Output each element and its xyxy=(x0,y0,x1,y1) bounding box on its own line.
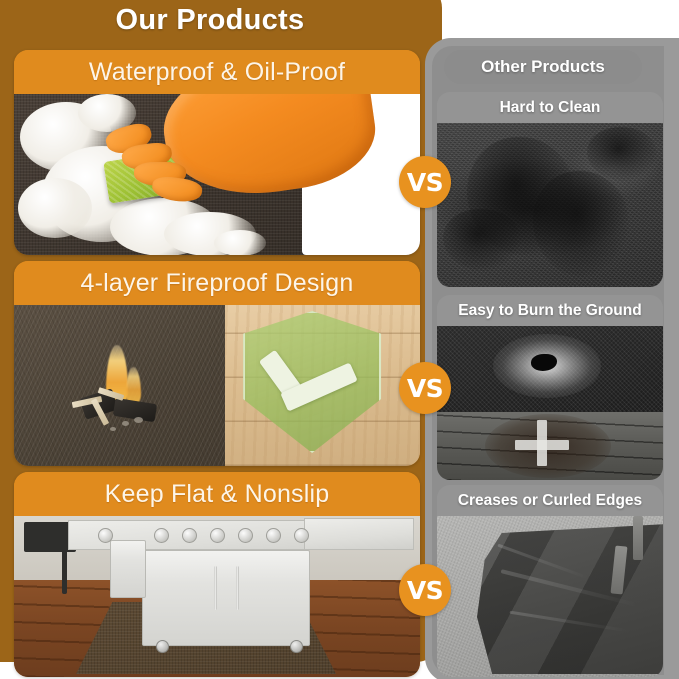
grill-door-handle xyxy=(236,566,239,610)
grill-knob xyxy=(210,528,225,543)
other-products-title: Other Products xyxy=(444,50,642,84)
vs-badge: VS xyxy=(399,564,451,616)
our-product-card-fireproof: 4-layer Fireproof Design xyxy=(14,261,420,466)
grill-knob xyxy=(182,528,197,543)
ash-fleck xyxy=(110,427,116,431)
patio-chair xyxy=(62,526,67,594)
our-card-heading: 4-layer Fireproof Design xyxy=(14,261,420,305)
grill-knob xyxy=(98,528,113,543)
our-card-heading: Keep Flat & Nonslip xyxy=(14,472,420,516)
vs-badge: VS xyxy=(399,362,451,414)
other-product-card-hard-to-clean: Hard to Clean xyxy=(437,92,663,287)
other-product-card-burn-ground: Easy to Burn the Ground xyxy=(437,295,663,480)
grill-side-shelf xyxy=(304,518,414,550)
patio-chair xyxy=(28,546,70,551)
ash-fleck xyxy=(122,421,129,426)
grill-cabinet xyxy=(142,550,310,646)
fireproof-photo xyxy=(14,305,420,466)
dirty-carpet-photo xyxy=(437,123,663,287)
black-mat-texture xyxy=(437,326,663,415)
burned-mat-photo xyxy=(437,326,663,480)
our-card-heading: Waterproof & Oil-Proof xyxy=(14,50,420,94)
other-product-card-creases: Creases or Curled Edges xyxy=(437,485,663,677)
ash-fleck xyxy=(134,417,143,423)
scorched-deck xyxy=(437,412,663,480)
our-products-title: Our Products xyxy=(0,4,420,37)
grill-knob xyxy=(154,528,169,543)
curled-mat-photo xyxy=(437,516,663,677)
grill-leg xyxy=(633,516,643,560)
grill-knob xyxy=(294,528,309,543)
other-card-heading: Hard to Clean xyxy=(437,92,663,123)
our-product-card-waterproof: Waterproof & Oil-Proof xyxy=(14,50,420,255)
grill-caster-wheel xyxy=(290,640,303,653)
grill-caster-wheel xyxy=(156,640,169,653)
other-card-heading: Easy to Burn the Ground xyxy=(437,295,663,326)
grill-knob xyxy=(266,528,281,543)
soap-suds xyxy=(214,230,266,255)
grill-side-burner xyxy=(110,540,146,598)
nonslip-photo xyxy=(14,516,420,677)
our-product-card-nonslip: Keep Flat & Nonslip xyxy=(14,472,420,677)
grill-door-handle xyxy=(214,566,217,610)
grill-knob xyxy=(238,528,253,543)
vs-badge: VS xyxy=(399,156,451,208)
wood-deck-scene xyxy=(225,305,420,466)
other-card-heading: Creases or Curled Edges xyxy=(437,485,663,516)
soap-suds xyxy=(18,178,92,238)
burning-mat-scene xyxy=(14,305,225,466)
product-comparison-infographic: Our Products Waterproof & Oil-Proof xyxy=(0,0,679,679)
cross-mark xyxy=(515,440,569,450)
waterproof-photo xyxy=(14,94,420,255)
